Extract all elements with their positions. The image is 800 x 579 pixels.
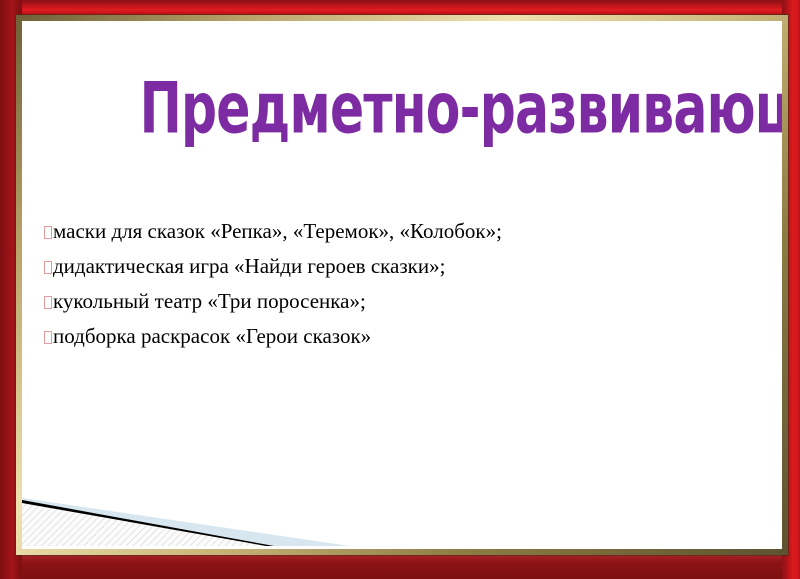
list-item-label: кукольный театр «Три поросенка»; [53,284,366,319]
list-item-label: подборка раскрасок «Герои сказок» [53,319,371,354]
bullet-square-icon [44,261,52,274]
wedge-hatched-triangle [22,503,266,546]
bullet-square-icon [44,226,52,239]
list-item-label: дидактическая игра «Найди героев сказки»… [53,249,445,284]
corner-wedge-decoration [22,494,352,549]
list-item: маски для сказок «Репка», «Теремок», «Ко… [44,214,744,249]
slide-title: Предметно-развивающая среда. [140,73,782,144]
list-item: дидактическая игра «Найди героев сказки»… [44,249,744,284]
list-item-label: маски для сказок «Репка», «Теремок», «Ко… [53,214,502,249]
slide-title-container: Предметно-развивающая среда. [22,77,782,140]
presentation-slide: Предметно-развивающая среда. маски для с… [0,0,800,579]
bullet-square-icon [44,296,52,309]
list-item: кукольный театр «Три поросенка»; [44,284,744,319]
bullet-list: маски для сказок «Репка», «Теремок», «Ко… [44,214,744,354]
wedge-blue-triangle [22,498,350,546]
slide-canvas: Предметно-развивающая среда. маски для с… [22,21,782,549]
bullet-square-icon [44,331,52,344]
list-item: подборка раскрасок «Герои сказок» [44,319,744,354]
wedge-black-sliver [22,500,274,546]
